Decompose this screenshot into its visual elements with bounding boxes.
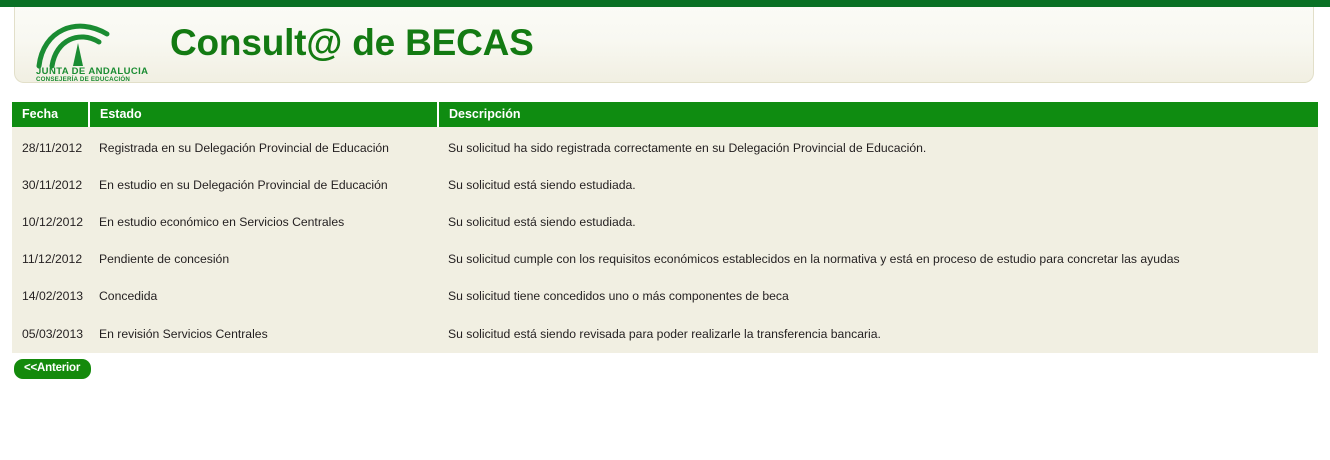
status-history-table-container: Fecha Estado Descripción 28/11/2012 Regi… bbox=[12, 102, 1318, 353]
table-row: 05/03/2013 En revisión Servicios Central… bbox=[12, 314, 1318, 353]
cell-fecha: 14/02/2013 bbox=[12, 277, 89, 314]
table-header: Fecha Estado Descripción bbox=[12, 102, 1318, 127]
junta-de-andalucia-logo: JUNTA DE ANDALUCIA CONSEJERÍA DE EDUCACI… bbox=[25, 10, 153, 82]
table-row: 28/11/2012 Registrada en su Delegación P… bbox=[12, 127, 1318, 166]
cell-descripcion: Su solicitud tiene concedidos uno o más … bbox=[438, 277, 1318, 314]
cell-descripcion: Su solicitud está siendo estudiada. bbox=[438, 203, 1318, 240]
table-row: 30/11/2012 En estudio en su Delegación P… bbox=[12, 166, 1318, 203]
cell-estado: Registrada en su Delegación Provincial d… bbox=[89, 127, 438, 166]
status-history-table: Fecha Estado Descripción 28/11/2012 Regi… bbox=[12, 102, 1318, 353]
andalucia-arches-icon: JUNTA DE ANDALUCIA CONSEJERÍA DE EDUCACI… bbox=[25, 10, 153, 82]
cell-fecha: 11/12/2012 bbox=[12, 240, 89, 277]
cell-estado: Concedida bbox=[89, 277, 438, 314]
cell-fecha: 28/11/2012 bbox=[12, 127, 89, 166]
andalucia-tree-icon bbox=[73, 43, 83, 66]
column-header-estado: Estado bbox=[89, 102, 438, 127]
previous-button[interactable]: <<Anterior bbox=[14, 359, 91, 379]
cell-descripcion: Su solicitud cumple con los requisitos e… bbox=[438, 240, 1318, 277]
cell-estado: En revisión Servicios Centrales bbox=[89, 314, 438, 353]
cell-fecha: 30/11/2012 bbox=[12, 166, 89, 203]
cell-estado: Pendiente de concesión bbox=[89, 240, 438, 277]
column-header-descripcion: Descripción bbox=[438, 102, 1318, 127]
cell-descripcion: Su solicitud está siendo revisada para p… bbox=[438, 314, 1318, 353]
actions-bar: <<Anterior bbox=[14, 358, 91, 379]
cell-estado: En estudio económico en Servicios Centra… bbox=[89, 203, 438, 240]
table-row: 14/02/2013 Concedida Su solicitud tiene … bbox=[12, 277, 1318, 314]
cell-estado: En estudio en su Delegación Provincial d… bbox=[89, 166, 438, 203]
cell-descripcion: Su solicitud está siendo estudiada. bbox=[438, 166, 1318, 203]
cell-fecha: 05/03/2013 bbox=[12, 314, 89, 353]
table-body: 28/11/2012 Registrada en su Delegación P… bbox=[12, 127, 1318, 353]
top-accent-bar bbox=[0, 0, 1330, 7]
page-title: Consult@ de BECAS bbox=[170, 22, 534, 64]
page-header-panel: JUNTA DE ANDALUCIA CONSEJERÍA DE EDUCACI… bbox=[14, 7, 1314, 83]
cell-descripcion: Su solicitud ha sido registrada correcta… bbox=[438, 127, 1318, 166]
cell-fecha: 10/12/2012 bbox=[12, 203, 89, 240]
logo-department-text: CONSEJERÍA DE EDUCACIÓN bbox=[36, 75, 130, 82]
table-header-row: Fecha Estado Descripción bbox=[12, 102, 1318, 127]
table-row: 11/12/2012 Pendiente de concesión Su sol… bbox=[12, 240, 1318, 277]
table-row: 10/12/2012 En estudio económico en Servi… bbox=[12, 203, 1318, 240]
column-header-fecha: Fecha bbox=[12, 102, 89, 127]
